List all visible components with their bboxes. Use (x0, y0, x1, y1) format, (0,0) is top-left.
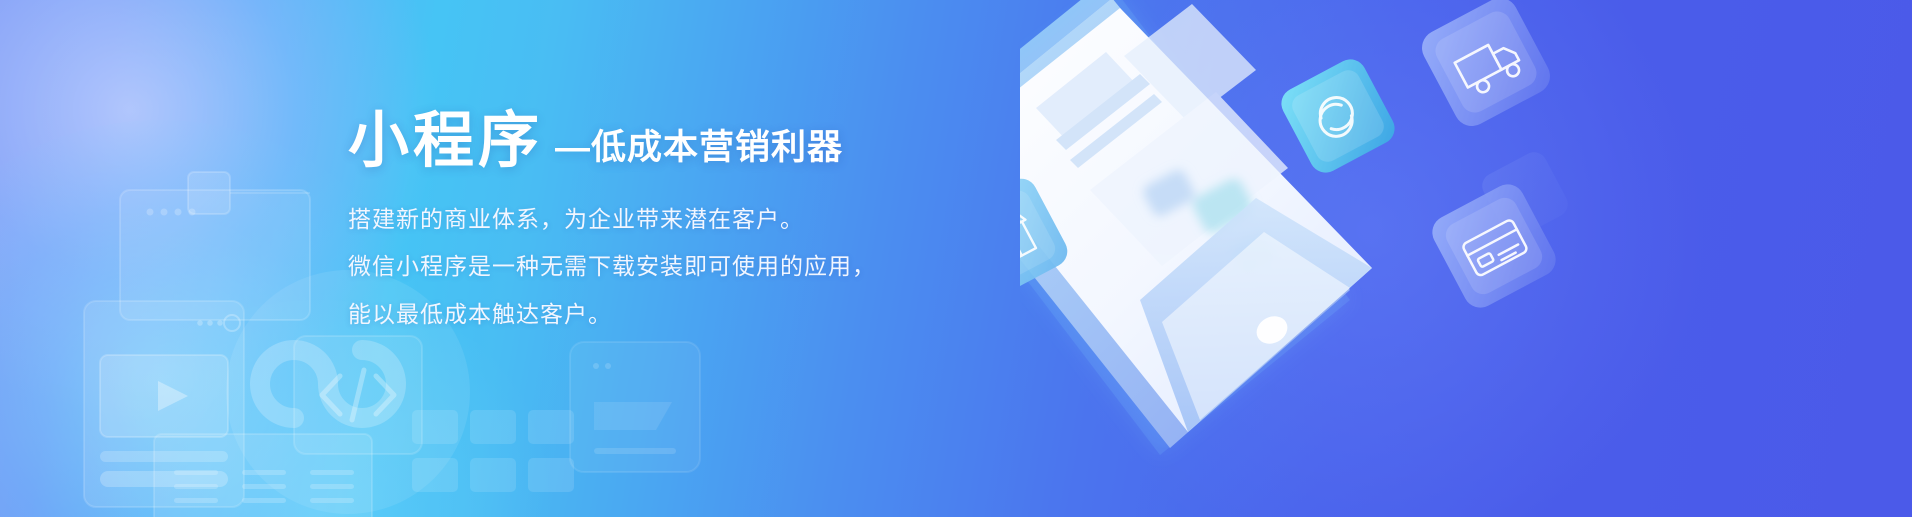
video-player-card-watermark (78, 295, 268, 515)
headline-main: 小程序 (348, 108, 543, 173)
chat-bubble-watermark (560, 332, 710, 482)
code-brackets-watermark (288, 330, 428, 460)
glow-lower-left (60, 300, 580, 517)
promo-banner: 小程序 —低成本营销利器 搭建新的商业体系，为企业带来潜在客户。 微信小程序是一… (0, 0, 1912, 517)
list-card-watermark (150, 430, 380, 517)
sync-refresh-icon (1276, 54, 1400, 178)
description-line-2: 微信小程序是一种无需下载安装即可使用的应用， (348, 252, 968, 281)
smartphone-illustration (1020, 0, 1912, 517)
delivery-truck-icon (1416, 0, 1557, 132)
banner-text-block: 小程序 —低成本营销利器 搭建新的商业体系，为企业带来潜在客户。 微信小程序是一… (348, 108, 968, 329)
banner-description: 搭建新的商业体系，为企业带来潜在客户。 微信小程序是一种无需下载安装即可使用的应… (348, 205, 968, 329)
browser-window-watermark (60, 170, 320, 370)
description-line-1: 搭建新的商业体系，为企业带来潜在客户。 (348, 205, 968, 234)
page-title: 小程序 —低成本营销利器 (348, 108, 968, 173)
headline-sub: —低成本营销利器 (555, 119, 843, 170)
rows-watermark (408, 400, 578, 510)
description-line-3: 能以最低成本触达客户。 (348, 300, 968, 329)
